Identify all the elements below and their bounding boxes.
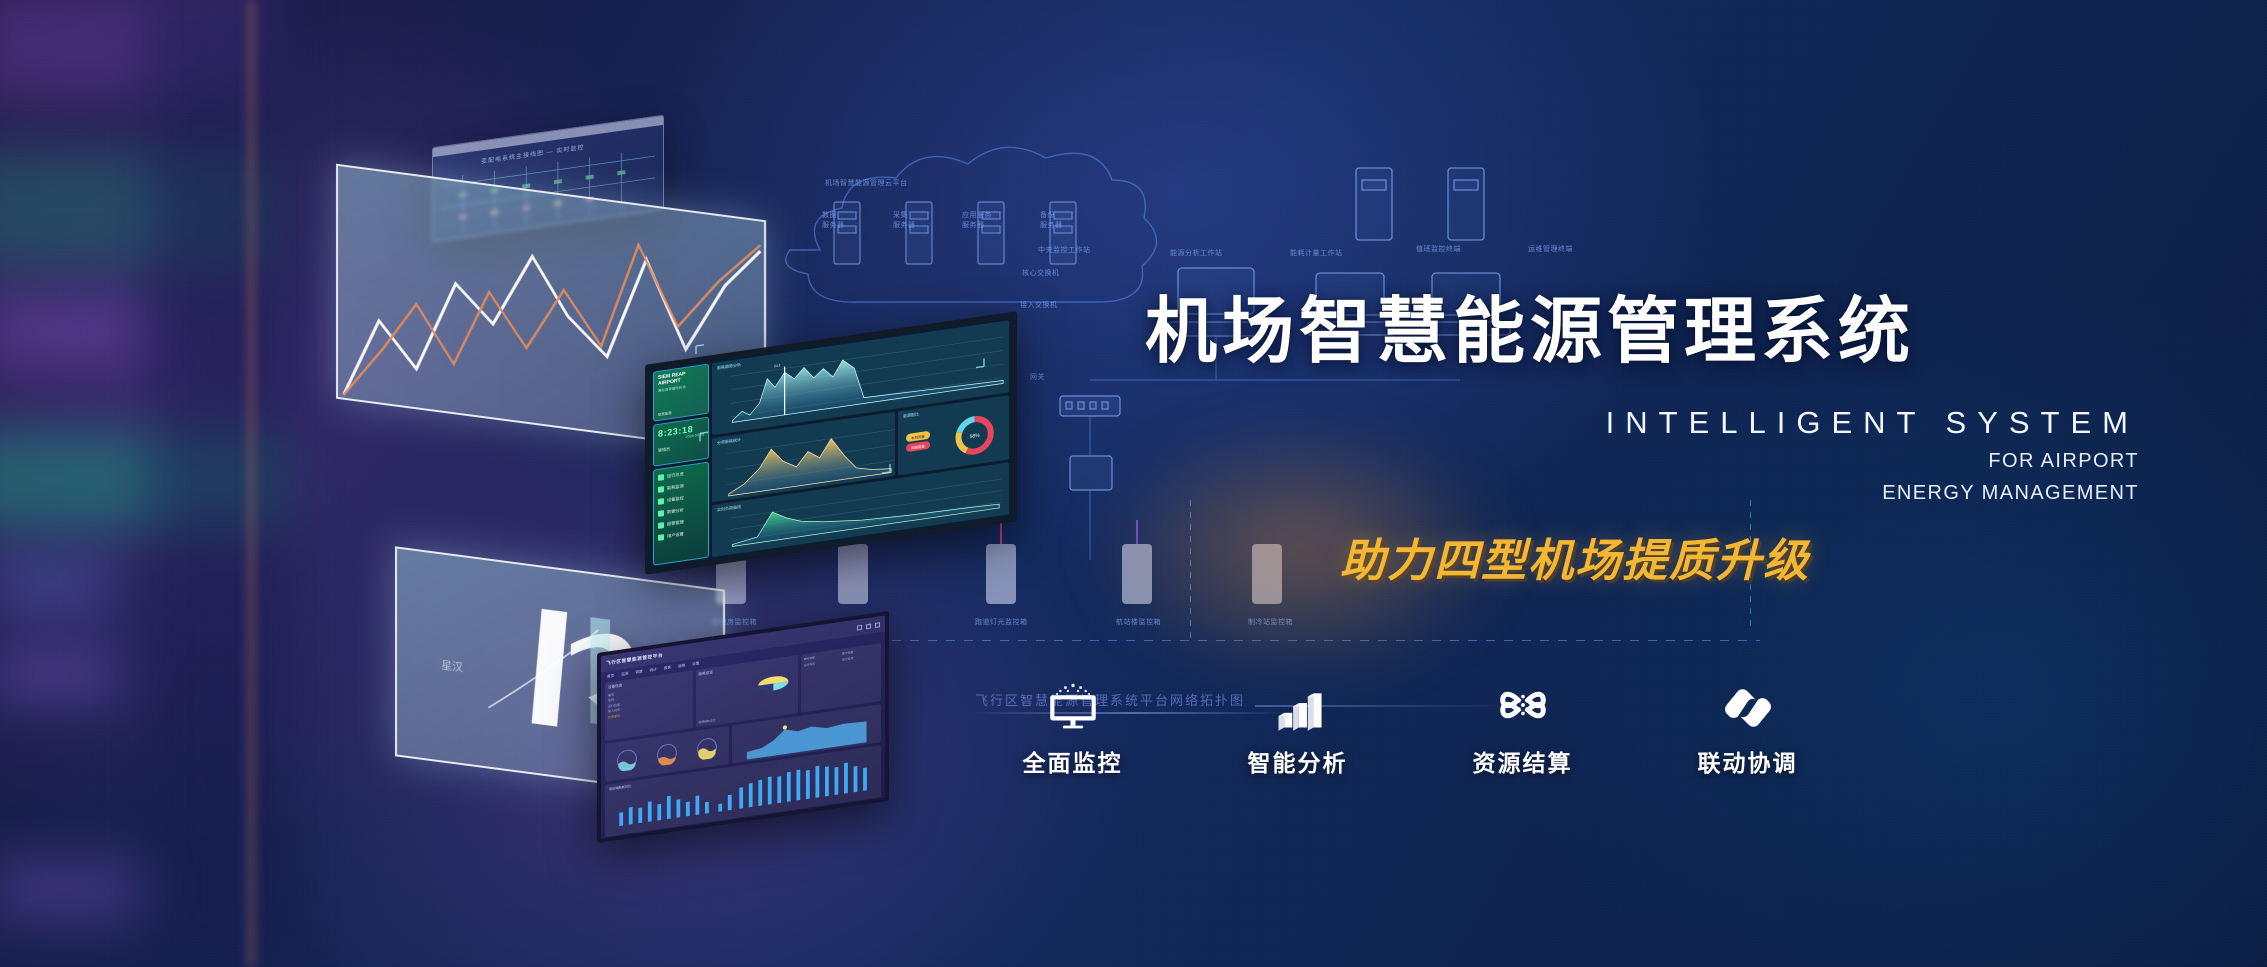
blurred-background-panel [0, 0, 250, 967]
nav-item[interactable]: 运行总览 [658, 468, 704, 481]
device-label: 接入交换机 [1020, 300, 1058, 310]
cabinet-label: 跑道灯光监控箱 [975, 617, 1028, 627]
gauge-cooling [656, 741, 678, 766]
nav-label[interactable]: 报表 [664, 665, 671, 671]
gear-icon [658, 534, 664, 541]
nav-label: 运行总览 [667, 471, 684, 479]
subtitle-en: INTELLIGENT SYSTEM [1145, 405, 2145, 441]
feature-item-coordination[interactable]: 联动协调 [1635, 672, 1860, 778]
monitor-icon [960, 672, 1185, 732]
nav-item[interactable]: 数据分析 [658, 504, 704, 517]
interlink-icon [1635, 672, 1860, 732]
feature-label: 智能分析 [1185, 744, 1410, 778]
subtitle-line3: ENERGY MANAGEMENT [1145, 482, 2145, 505]
device-label: 核心交换机 [1022, 268, 1060, 278]
cloud-node-label: 采集服务器 [893, 210, 916, 230]
subtitle-line2: FOR AIRPORT [1145, 450, 2145, 473]
terminal-label: 值班监控终端 [1416, 244, 1461, 254]
nav-item[interactable]: 设备监控 [658, 492, 704, 505]
donut-center-value: 58% [970, 433, 981, 440]
card-realtime[interactable]: 瞬时功率 累计电量 运行电压 运行电流 [801, 643, 881, 713]
topology-cloud-caption: 机场智慧能源管理云平台 [825, 178, 908, 188]
nav-label[interactable]: 首页 [607, 674, 614, 680]
nav-label: 报警管理 [667, 519, 684, 527]
nav-label[interactable]: 运维 [678, 663, 685, 669]
alert-icon [658, 522, 664, 529]
clock-block: 8:23:18 2024-03-08 管理员 [653, 417, 709, 467]
device-label: 网关 [1030, 372, 1045, 382]
svg-text:星汉: 星汉 [441, 658, 463, 674]
bell-icon[interactable] [866, 623, 871, 629]
feature-item-settlement[interactable]: 资源结算 [1410, 672, 1635, 778]
headline-block: 机场智慧能源管理系统 INTELLIGENT SYSTEM FOR AIRPOR… [1145, 272, 2145, 505]
feature-label: 联动协调 [1635, 744, 1860, 778]
dashboard-nav[interactable]: 运行总览 能耗监测 设备监控 数据分析 [653, 462, 709, 566]
feature-label: 资源结算 [1410, 744, 1635, 778]
cloud-node-label: 备份服务器 [1040, 210, 1063, 230]
nav-item[interactable]: 用户设置 [658, 528, 704, 541]
brand-sub: 智慧能源 [658, 410, 672, 417]
nav-label: 数据分析 [667, 507, 684, 515]
chart-small-icon [658, 510, 664, 517]
grid-icon [658, 486, 664, 493]
user-icon[interactable] [857, 624, 862, 630]
page-title: 机场智慧能源管理系统 [1145, 272, 2145, 377]
pie-title: 能源结构占比 [699, 718, 716, 724]
nav-label: 设备监控 [667, 495, 684, 503]
cloud-node-label: 应用服务服务器 [962, 210, 992, 230]
home-icon [658, 474, 664, 481]
gauge-power [616, 747, 638, 772]
tagline: 助力四型机场提质升级 [1340, 524, 1810, 589]
clover-node-icon [1410, 672, 1635, 732]
terminal-label: 运维管理终端 [1528, 244, 1573, 254]
monitor-small-icon [658, 498, 664, 505]
brand-block: SIEM REAP AIRPORT 暹粒吴哥国际机场 智慧能源 [653, 364, 709, 422]
nav-label: 能耗监测 [667, 483, 684, 491]
hero-banner: 机场智慧能源管理云平台 数据服务器 采集服务器 应用服务服务器 备份服务器 中央… [0, 0, 2267, 967]
cloud-node-label: 数据服务器 [822, 210, 845, 230]
nav-label[interactable]: 调度 [635, 669, 642, 675]
nav-label[interactable]: 监测 [621, 672, 628, 678]
settings-icon[interactable] [875, 622, 880, 628]
feature-label: 全面监控 [960, 744, 1185, 778]
panel-energy-mix[interactable]: 能源配比 58% 本期用量 同期用量 [898, 395, 1009, 475]
user-label: 管理员 [658, 441, 704, 454]
gauge-gas [696, 736, 718, 761]
nav-item[interactable]: 报警管理 [658, 516, 704, 529]
lower-dashboard-screen[interactable]: 飞行区智慧能源管控平台 首页 监测 调度 统计 报表 运维 设置 设备信息 编号… [597, 611, 889, 843]
bar-chart-icon [1185, 672, 1410, 732]
vertical-divider-glow [248, 0, 258, 967]
terminal-label: 中央监控工作站 [1038, 245, 1091, 255]
terminal-label: 能源分析工作站 [1170, 248, 1223, 258]
feature-row: 全面监控 智能分析 [960, 672, 1860, 778]
dashboard-sidebar[interactable]: SIEM REAP AIRPORT 暹粒吴哥国际机场 智慧能源 8:23:18 … [650, 360, 712, 569]
terminal-label: 能耗计量工作站 [1290, 248, 1343, 258]
nav-label[interactable]: 设置 [692, 661, 699, 667]
nav-label[interactable]: 统计 [650, 667, 657, 673]
nav-label: 用户设置 [667, 531, 684, 539]
feature-item-monitoring[interactable]: 全面监控 [960, 672, 1185, 778]
nav-item[interactable]: 能耗监测 [658, 480, 704, 493]
feature-item-analysis[interactable]: 智能分析 [1185, 672, 1410, 778]
